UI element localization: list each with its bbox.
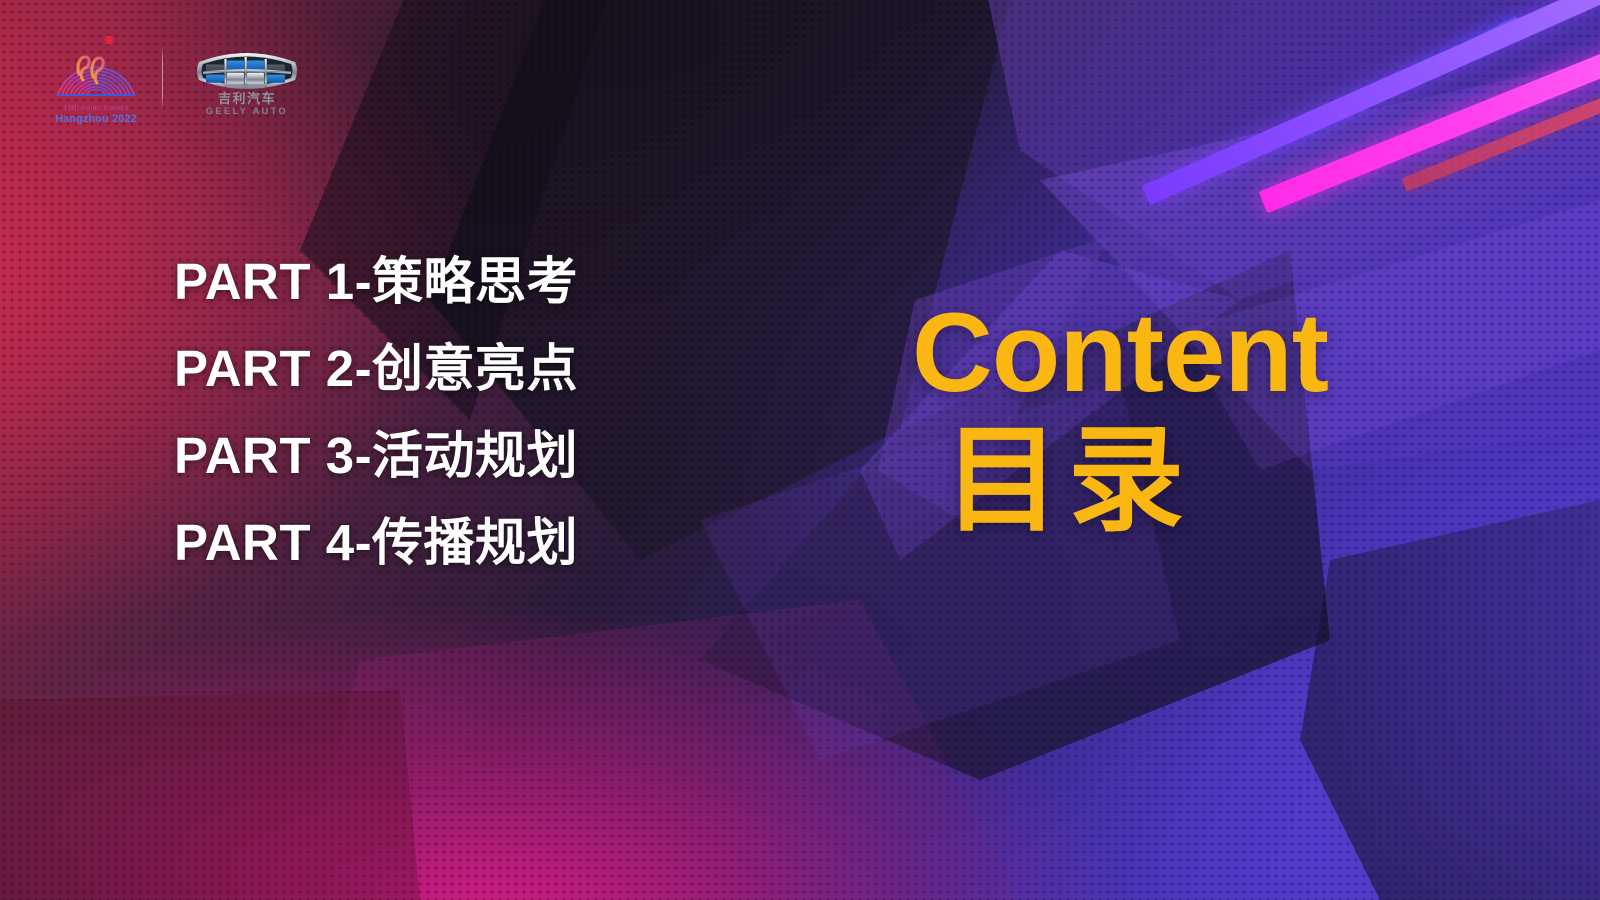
geely-line1: 吉利汽车	[218, 91, 276, 106]
agenda-item-part-3[interactable]: PART 3-活动规划	[174, 426, 578, 485]
agenda-item-part-1[interactable]: PART 1-策略思考	[174, 252, 578, 311]
agenda-item-part-4[interactable]: PART 4-传播规划	[174, 513, 578, 572]
page-title-chinese: 目录	[944, 420, 1328, 541]
geely-line2: GEELY AUTO	[206, 106, 288, 116]
agenda-part-list: PART 1-策略思考 PART 2-创意亮点 PART 3-活动规划 PART…	[174, 252, 578, 573]
logo-bar: 19th Asian Games Hangzhou 2022	[52, 28, 305, 128]
page-title: Content 目录	[912, 296, 1328, 541]
agenda-item-part-2[interactable]: PART 2-创意亮点	[174, 339, 578, 398]
geely-auto-shield-icon: 吉利汽车 GEELY AUTO	[189, 40, 305, 116]
asian-games-line2: Hangzhou 2022	[55, 113, 137, 124]
logo-divider	[162, 46, 163, 110]
page-title-english: Content	[912, 296, 1328, 410]
asian-games-line1: 19th Asian Games	[63, 103, 128, 112]
hangzhou-asian-games-emblem-icon: 19th Asian Games Hangzhou 2022	[52, 32, 140, 124]
agenda-slide: 19th Asian Games Hangzhou 2022	[0, 0, 1600, 900]
